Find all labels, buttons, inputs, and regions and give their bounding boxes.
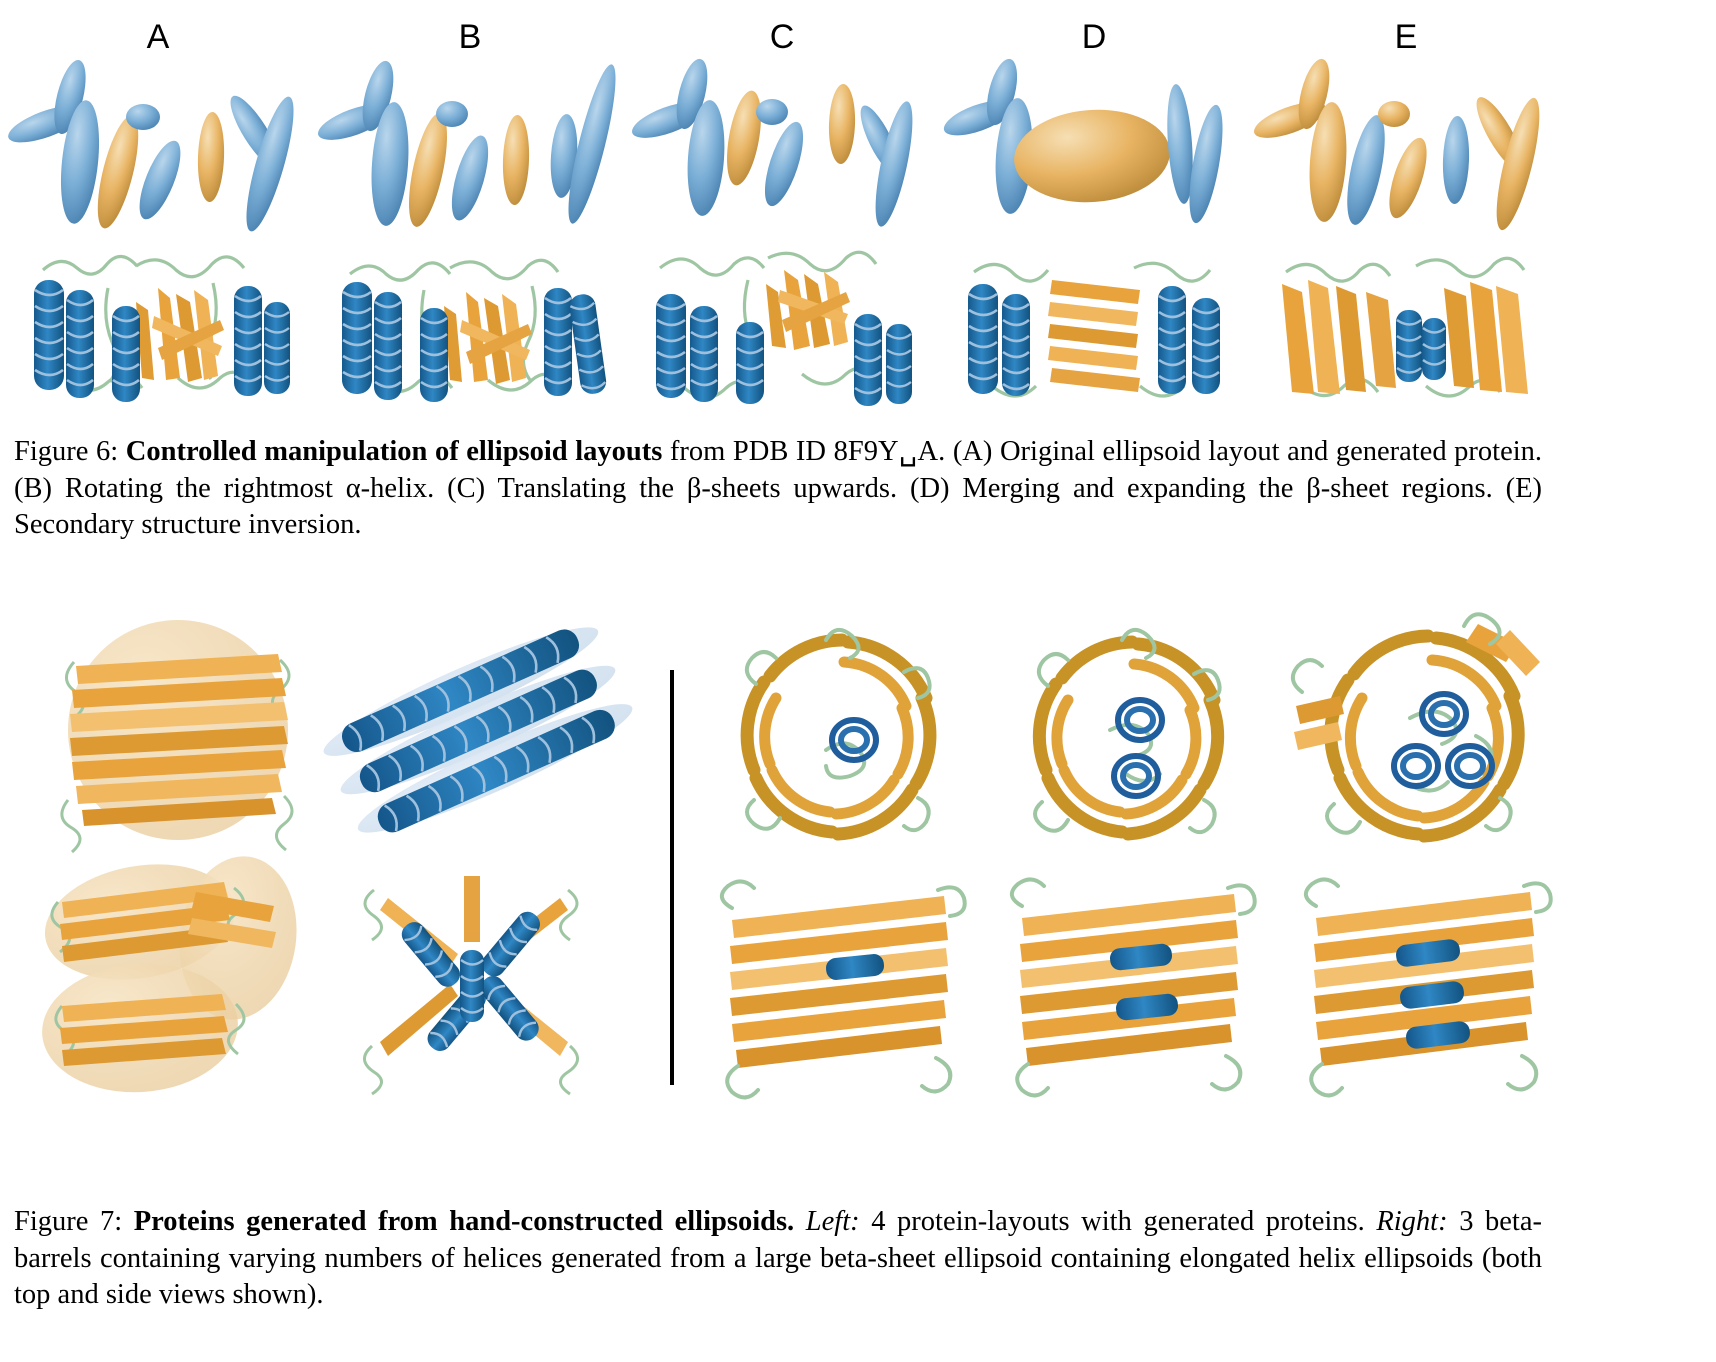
- layout-three-beta-ellipsoids: [36, 849, 307, 1099]
- barrel-center-helices-3: [1394, 694, 1492, 786]
- ellipsoid-group-d: [940, 56, 1229, 225]
- ellipsoid-layout-c: [632, 52, 932, 232]
- protein-cartoon-b: [320, 228, 620, 423]
- barrel-3-helix: [1293, 614, 1551, 1095]
- figure-7-caption-title: Proteins generated from hand-constructed…: [134, 1206, 794, 1237]
- figure-7-left-text: 4 protein-layouts with generated protein…: [860, 1206, 1365, 1237]
- beta-sheet-group: [136, 288, 224, 382]
- beta-sheet-group: [766, 270, 850, 350]
- protein-cartoon-c: [632, 228, 932, 423]
- barrel-1-helix: [722, 630, 965, 1098]
- figure6-panel-c: C: [632, 0, 932, 430]
- figure-6-caption: Figure 6: Controlled manipulation of ell…: [14, 434, 1542, 544]
- barrel-2-helix: [1012, 630, 1255, 1096]
- beta-sheet-group: [444, 292, 532, 384]
- figure6-panel-e: E: [1256, 0, 1556, 430]
- figure-7-caption: Figure 7: Proteins generated from hand-c…: [14, 1204, 1542, 1314]
- protein-cartoon-a: [8, 228, 308, 423]
- barrel-top-view-2: [1035, 630, 1220, 834]
- layout-radial-helix-sheet: [364, 876, 577, 1094]
- figure-6-image: A: [8, 0, 1568, 430]
- protein-cartoon-d: [944, 228, 1244, 423]
- barrel-top-view-1: [747, 630, 930, 834]
- figure-6-caption-prefix: Figure 6:: [14, 436, 118, 467]
- layout-helix-bundle: [315, 611, 641, 850]
- figure-7-image: [8, 600, 1568, 1100]
- barrel-side-view-3: [1306, 879, 1551, 1095]
- figure-7-left-label: Left:: [806, 1206, 860, 1237]
- figure-7-right-label: Right:: [1376, 1206, 1447, 1237]
- figure-7-caption-prefix: Figure 7:: [14, 1206, 122, 1237]
- figure6-panel-d: D: [944, 0, 1244, 430]
- panel-label-e: E: [1256, 20, 1556, 54]
- ellipsoid-layout-a: [8, 52, 308, 232]
- barrel-side-view-2: [1012, 879, 1255, 1095]
- layout-beta-sphere: [62, 620, 292, 852]
- ellipsoid-group-c: [628, 56, 920, 229]
- figure7-left-group: [28, 610, 648, 1100]
- figure6-panel-a: A: [8, 0, 308, 430]
- ellipsoid-layout-e: [1256, 52, 1556, 232]
- barrel-side-view-1: [722, 881, 965, 1097]
- figure7-right-group: [698, 610, 1568, 1100]
- alpha-helix-group: [656, 294, 912, 406]
- alpha-helix-group: [1396, 310, 1446, 382]
- panel-label-c: C: [632, 20, 932, 54]
- barrel-center-helices-1: [832, 720, 876, 760]
- ellipsoid-layout-d: [944, 52, 1244, 232]
- panel-label-b: B: [320, 20, 620, 54]
- ellipsoid-layout-b: [320, 52, 620, 232]
- panel-label-d: D: [944, 20, 1244, 54]
- figure-6-caption-title: Controlled manipulation of ellipsoid lay…: [126, 436, 663, 467]
- protein-cartoon-e: [1256, 228, 1556, 423]
- ellipsoid-group-b: [314, 58, 625, 230]
- barrel-top-view-3: [1293, 614, 1540, 836]
- figure7-vertical-divider: [670, 670, 674, 1085]
- ellipsoid-group-e: [1250, 56, 1548, 233]
- beta-sheet-group: [1048, 280, 1140, 392]
- ellipsoid-group-a: [4, 57, 303, 235]
- panel-label-a: A: [8, 20, 308, 54]
- figure-page: A: [0, 0, 1716, 1362]
- figure6-panel-b: B: [320, 0, 620, 430]
